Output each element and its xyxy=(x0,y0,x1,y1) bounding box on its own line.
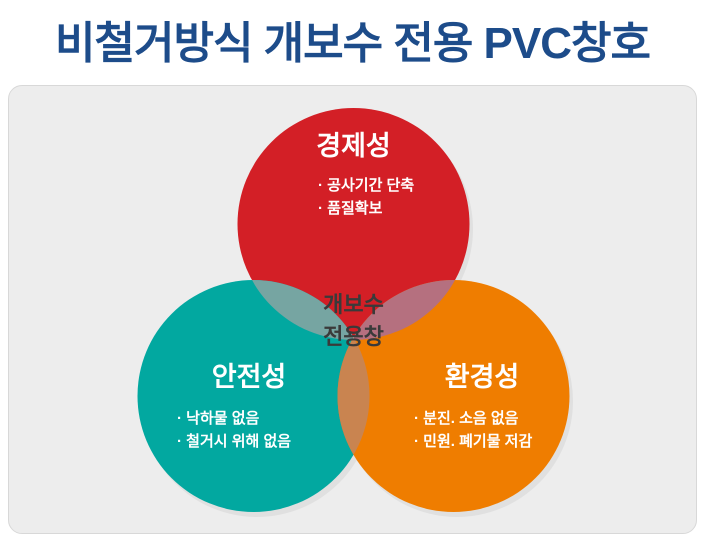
venn-heading-environment: 환경성 xyxy=(445,362,520,392)
venn-center-line2: 전용창 xyxy=(323,324,384,349)
venn-bullet-economy-1: · 공사기간 단축 xyxy=(318,177,414,194)
venn-heading-economy: 경제성 xyxy=(316,131,391,161)
diagram-panel: 경제성 · 공사기간 단축 · 품질확보 안전성 · 낙하물 없음 · 철거시 … xyxy=(8,85,697,534)
venn-heading-safety: 안전성 xyxy=(212,362,287,392)
slide-canvas: 비철거방식 개보수 전용 PVC창호 xyxy=(0,0,705,546)
venn-bullet-environment-2: · 민원. 폐기물 저감 xyxy=(414,432,532,450)
venn-bullet-safety-2: · 철거시 위해 없음 xyxy=(177,433,291,450)
page-title: 비철거방식 개보수 전용 PVC창호 xyxy=(55,22,650,66)
venn-diagram: 경제성 · 공사기간 단축 · 품질확보 안전성 · 낙하물 없음 · 철거시 … xyxy=(9,86,697,534)
venn-center-line1: 개보수 xyxy=(323,292,384,317)
slide-title-bar: 비철거방식 개보수 전용 PVC창호 xyxy=(0,8,705,80)
venn-bullet-safety-1: · 낙하물 없음 xyxy=(177,410,260,427)
venn-bullet-environment-1: · 분진. 소음 없음 xyxy=(414,410,519,427)
venn-bullet-economy-2: · 품질확보 xyxy=(318,199,383,217)
